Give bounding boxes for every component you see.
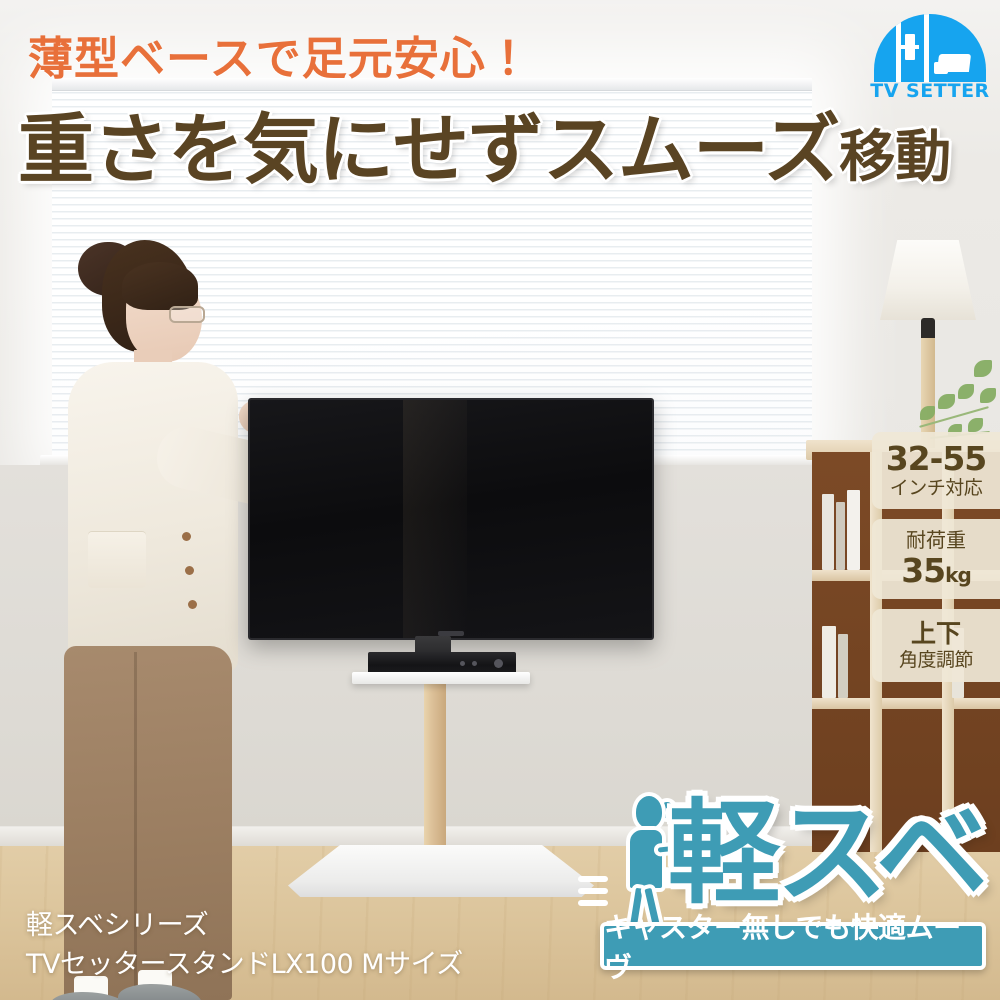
karusube-wordmark: 軽スベ xyxy=(668,784,984,924)
product-series: 軽スベシリーズ xyxy=(26,907,463,945)
spec-sub: 角度調節 xyxy=(878,649,994,672)
status-badge: 32-55 インチ対応 xyxy=(872,432,1000,509)
spec-value: 35kg xyxy=(878,553,994,589)
product-name: TVセッタースタンドLX100 Mサイズ xyxy=(26,946,463,984)
television-icon xyxy=(248,398,654,640)
book xyxy=(847,490,860,570)
spec-sub: インチ対応 xyxy=(878,477,994,500)
book xyxy=(838,634,848,698)
spec-badge-list: 32-55 インチ対応 耐荷重 35kg 上下 角度調節 xyxy=(872,432,1000,692)
promo-banner: 薄型ベースで足元安心！ 重さを気にせずスムーズ移動 TV SETTER 32-5… xyxy=(0,0,1000,1000)
kicker-text: 薄型ベースで足元安心！ xyxy=(28,22,532,87)
headline-suffix: 移動 xyxy=(839,124,951,190)
stand-pole-icon xyxy=(424,652,446,866)
status-badge: 耐荷重 35kg xyxy=(872,519,1000,599)
spec-number: 35 xyxy=(901,551,945,590)
spec-label: 耐荷重 xyxy=(878,528,994,553)
status-badge: 上下 角度調節 xyxy=(872,609,1000,682)
headline-main: 重さを気にせずスムーズ xyxy=(18,105,839,194)
brand-name: TV SETTER xyxy=(866,80,994,102)
spec-unit: kg xyxy=(945,563,971,587)
brand-logo[interactable]: TV SETTER xyxy=(866,14,994,110)
book xyxy=(822,626,836,698)
glasses-icon xyxy=(169,306,205,323)
stand-base-icon xyxy=(288,845,594,897)
spec-value: 32-55 xyxy=(878,441,994,477)
spec-label: 上下 xyxy=(878,618,994,649)
bluray-player-icon xyxy=(368,652,516,674)
page-title: 重さを気にせずスムーズ移動 xyxy=(18,112,951,188)
product-caption: 軽スベシリーズ TVセッタースタンドLX100 Mサイズ xyxy=(26,907,463,984)
karusube-tagline: キャスター無しでも快適ムーヴ xyxy=(600,922,986,970)
karusube-logo: 軽スベ キャスター無しでも快適ムーヴ xyxy=(596,788,996,978)
book xyxy=(822,494,834,570)
av-shelf xyxy=(352,672,530,684)
tv-setter-dome-icon xyxy=(874,14,986,82)
book xyxy=(836,502,845,570)
